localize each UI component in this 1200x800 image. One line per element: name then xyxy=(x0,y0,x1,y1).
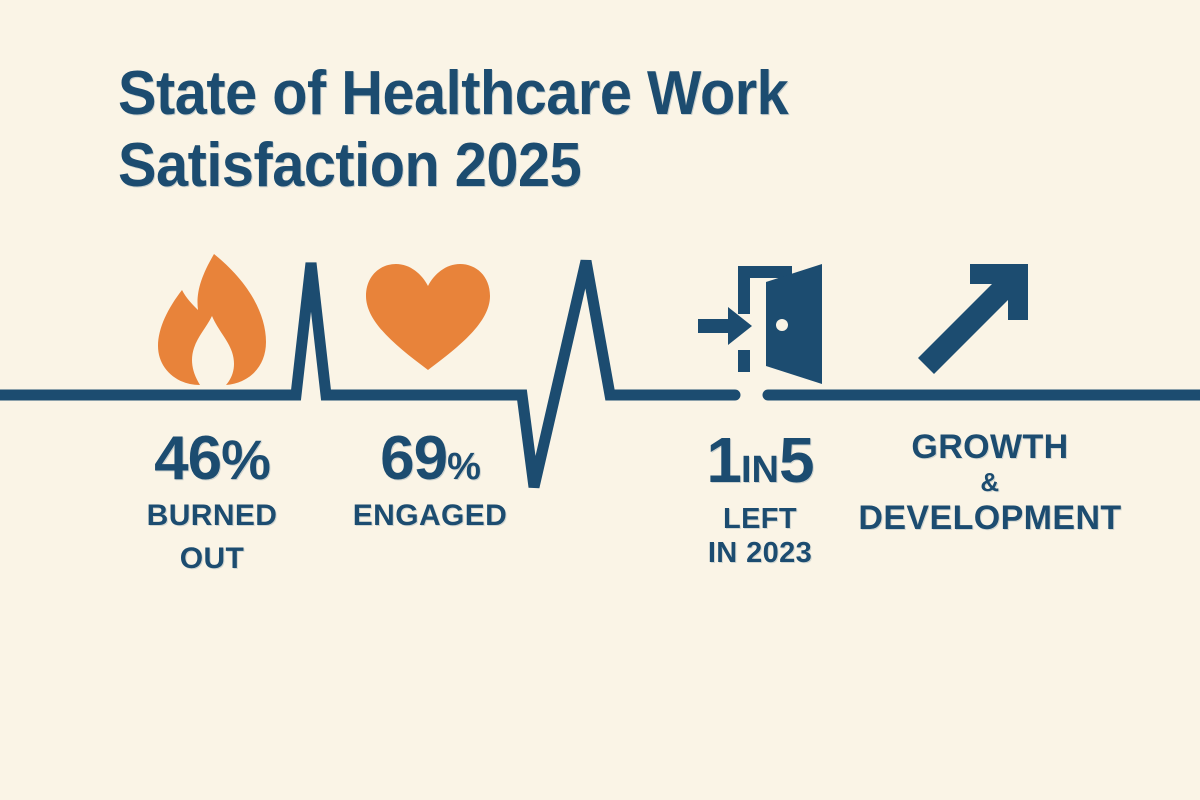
heart-icon xyxy=(362,262,494,372)
stat-turnover-label-line-1: LEFT xyxy=(662,503,858,535)
stat-growth-label-line-2: DEVELOPMENT xyxy=(848,499,1132,537)
stat-turnover-connector: IN xyxy=(741,449,779,491)
flame-icon-shape xyxy=(158,254,266,385)
heart-icon-shape xyxy=(366,264,490,370)
flame-icon xyxy=(152,252,272,387)
stat-burnout-label-line-1: BURNED xyxy=(108,499,316,533)
stat-engaged-number: 69 xyxy=(380,424,447,493)
stat-burnout-number: 46 xyxy=(154,424,221,493)
stat-growth-ampersand: & xyxy=(848,468,1132,497)
stat-engaged: 69% ENGAGED xyxy=(330,428,530,533)
stat-burnout-value: 46% xyxy=(108,428,316,490)
stat-growth: GROWTH & DEVELOPMENT xyxy=(848,428,1132,537)
exit-door-icon xyxy=(694,262,834,392)
stat-turnover-numerator: 1 xyxy=(706,424,741,496)
infographic-canvas: State of Healthcare Work Satisfaction 20… xyxy=(0,0,1200,800)
stat-turnover-label-line-2: IN 2023 xyxy=(662,537,858,569)
title-line-1: State of Healthcare Work xyxy=(118,58,881,130)
arrow-icon-shape xyxy=(918,264,1028,374)
door-knob-icon xyxy=(776,319,788,331)
stat-turnover-denominator: 5 xyxy=(779,424,814,496)
trending-up-arrow-icon xyxy=(912,258,1036,380)
door-jamb-stub-icon xyxy=(738,350,750,372)
stat-burnout-label-line-2: OUT xyxy=(108,542,316,576)
stat-engaged-unit: % xyxy=(447,446,480,488)
stat-turnover: 1IN5 LEFT IN 2023 xyxy=(662,428,858,570)
stat-growth-label-line-1: GROWTH xyxy=(848,428,1132,466)
stat-turnover-value: 1IN5 xyxy=(662,428,858,492)
page-title: State of Healthcare Work Satisfaction 20… xyxy=(118,58,938,202)
stat-burnout: 46% BURNED OUT xyxy=(108,428,316,575)
title-line-2: Satisfaction 2025 xyxy=(118,130,881,202)
stat-engaged-value: 69% xyxy=(330,428,530,490)
stat-engaged-label-line-1: ENGAGED xyxy=(330,499,530,533)
door-panel-icon xyxy=(766,264,822,384)
stat-burnout-unit: % xyxy=(221,428,270,491)
